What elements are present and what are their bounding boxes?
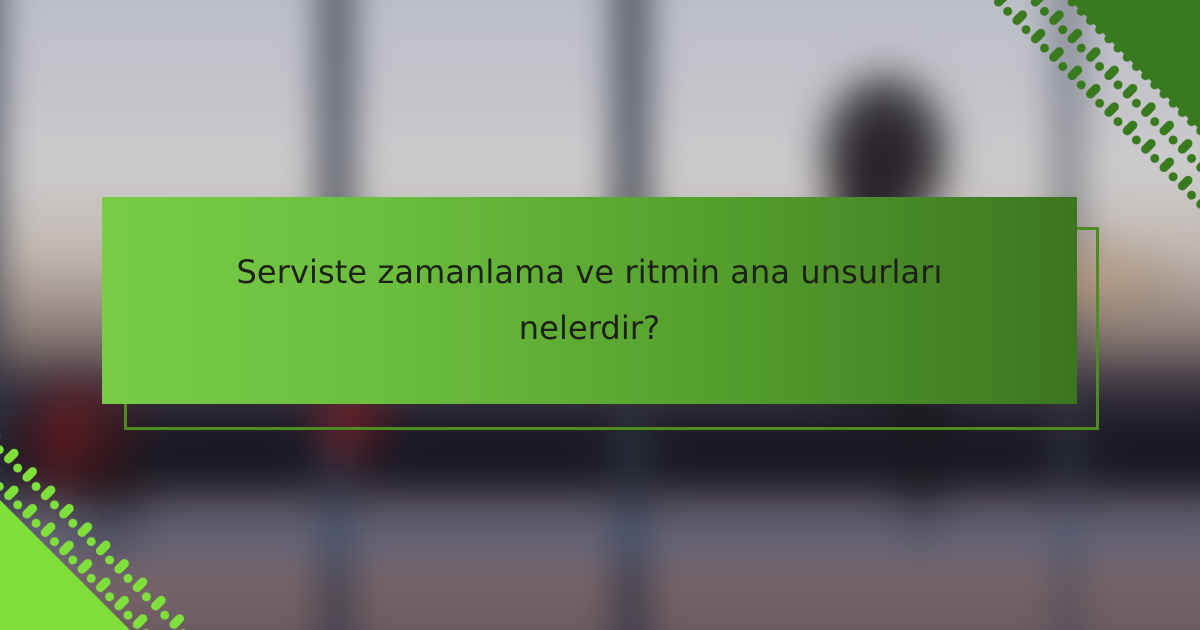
social-share-card: Serviste zamanlama ve ritmin ana unsurla… xyxy=(0,0,1200,630)
headline-panel: Serviste zamanlama ve ritmin ana unsurla… xyxy=(102,197,1077,404)
background-court-strip xyxy=(0,500,1200,570)
page-title: Serviste zamanlama ve ritmin ana unsurla… xyxy=(210,245,970,355)
